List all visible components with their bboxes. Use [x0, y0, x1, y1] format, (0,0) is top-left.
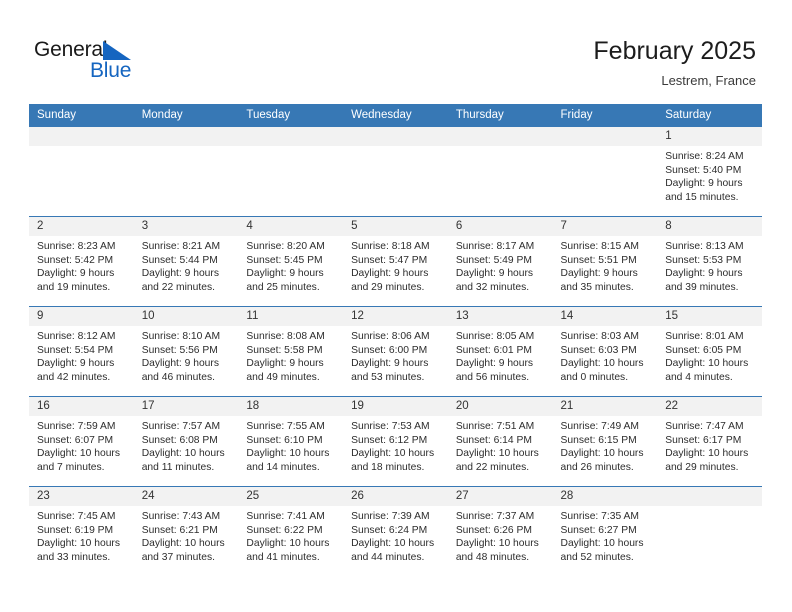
calendar-day-cell[interactable]: 14Sunrise: 8:03 AMSunset: 6:03 PMDayligh…: [553, 307, 658, 397]
logo-text-blue: Blue: [90, 59, 131, 83]
weekday-header-wednesday: Wednesday: [343, 104, 448, 127]
sunrise-text: Sunrise: 8:21 AM: [142, 240, 233, 254]
daylight-text: Daylight: 9 hours and 25 minutes.: [246, 267, 337, 294]
general-blue-logo[interactable]: General Blue: [34, 38, 184, 86]
sunset-text: Sunset: 5:56 PM: [142, 344, 233, 358]
sunset-text: Sunset: 6:03 PM: [561, 344, 652, 358]
calendar-body: 1Sunrise: 8:24 AMSunset: 5:40 PMDaylight…: [29, 127, 762, 577]
day-details: Sunrise: 7:45 AMSunset: 6:19 PMDaylight:…: [29, 506, 134, 564]
title-block: February 2025 Lestrem, France: [593, 36, 756, 90]
weekday-header-monday: Monday: [134, 104, 239, 127]
sunrise-text: Sunrise: 7:51 AM: [456, 420, 547, 434]
calendar-day-cell[interactable]: 27Sunrise: 7:37 AMSunset: 6:26 PMDayligh…: [448, 487, 553, 577]
daylight-text: Daylight: 9 hours and 53 minutes.: [351, 357, 442, 384]
day-number: 19: [343, 397, 448, 416]
sunset-text: Sunset: 6:27 PM: [561, 524, 652, 538]
day-details: Sunrise: 8:01 AMSunset: 6:05 PMDaylight:…: [657, 326, 762, 384]
daylight-text: Daylight: 10 hours and 44 minutes.: [351, 537, 442, 564]
sunrise-text: Sunrise: 8:15 AM: [561, 240, 652, 254]
calendar-week-row: 16Sunrise: 7:59 AMSunset: 6:07 PMDayligh…: [29, 397, 762, 487]
day-number: 1: [657, 127, 762, 146]
sunrise-text: Sunrise: 8:20 AM: [246, 240, 337, 254]
calendar-week-row: 1Sunrise: 8:24 AMSunset: 5:40 PMDaylight…: [29, 127, 762, 217]
sunrise-text: Sunrise: 7:45 AM: [37, 510, 128, 524]
sunrise-text: Sunrise: 7:59 AM: [37, 420, 128, 434]
daylight-text: Daylight: 9 hours and 32 minutes.: [456, 267, 547, 294]
sunrise-text: Sunrise: 7:41 AM: [246, 510, 337, 524]
daylight-text: Daylight: 10 hours and 0 minutes.: [561, 357, 652, 384]
sunset-text: Sunset: 5:53 PM: [665, 254, 756, 268]
sunset-text: Sunset: 5:58 PM: [246, 344, 337, 358]
calendar-day-cell[interactable]: 17Sunrise: 7:57 AMSunset: 6:08 PMDayligh…: [134, 397, 239, 487]
page-subtitle: Lestrem, France: [593, 72, 756, 90]
sunset-text: Sunset: 6:21 PM: [142, 524, 233, 538]
calendar-week-row: 9Sunrise: 8:12 AMSunset: 5:54 PMDaylight…: [29, 307, 762, 397]
calendar-day-cell[interactable]: 11Sunrise: 8:08 AMSunset: 5:58 PMDayligh…: [238, 307, 343, 397]
sunrise-text: Sunrise: 8:01 AM: [665, 330, 756, 344]
sunrise-text: Sunrise: 8:13 AM: [665, 240, 756, 254]
daylight-text: Daylight: 10 hours and 11 minutes.: [142, 447, 233, 474]
calendar-day-cell[interactable]: 26Sunrise: 7:39 AMSunset: 6:24 PMDayligh…: [343, 487, 448, 577]
sunset-text: Sunset: 5:40 PM: [665, 164, 756, 178]
weekday-header-saturday: Saturday: [657, 104, 762, 127]
day-number: 25: [238, 487, 343, 506]
sunset-text: Sunset: 6:17 PM: [665, 434, 756, 448]
sunset-text: Sunset: 6:15 PM: [561, 434, 652, 448]
daylight-text: Daylight: 9 hours and 56 minutes.: [456, 357, 547, 384]
calendar-week-row: 2Sunrise: 8:23 AMSunset: 5:42 PMDaylight…: [29, 217, 762, 307]
day-number: 15: [657, 307, 762, 326]
day-number: 23: [29, 487, 134, 506]
sunset-text: Sunset: 6:05 PM: [665, 344, 756, 358]
daylight-text: Daylight: 10 hours and 4 minutes.: [665, 357, 756, 384]
daylight-text: Daylight: 10 hours and 26 minutes.: [561, 447, 652, 474]
sunrise-text: Sunrise: 7:39 AM: [351, 510, 442, 524]
daylight-text: Daylight: 9 hours and 35 minutes.: [561, 267, 652, 294]
calendar-cell-empty: [553, 127, 658, 217]
calendar-cell-empty: [29, 127, 134, 217]
sunset-text: Sunset: 6:24 PM: [351, 524, 442, 538]
calendar-day-cell[interactable]: 4Sunrise: 8:20 AMSunset: 5:45 PMDaylight…: [238, 217, 343, 307]
day-number: 5: [343, 217, 448, 236]
sunrise-text: Sunrise: 8:23 AM: [37, 240, 128, 254]
calendar-day-cell[interactable]: 9Sunrise: 8:12 AMSunset: 5:54 PMDaylight…: [29, 307, 134, 397]
calendar-day-cell[interactable]: 5Sunrise: 8:18 AMSunset: 5:47 PMDaylight…: [343, 217, 448, 307]
sunrise-text: Sunrise: 8:12 AM: [37, 330, 128, 344]
day-details: Sunrise: 7:41 AMSunset: 6:22 PMDaylight:…: [238, 506, 343, 564]
sunset-text: Sunset: 5:49 PM: [456, 254, 547, 268]
day-details: Sunrise: 8:17 AMSunset: 5:49 PMDaylight:…: [448, 236, 553, 294]
day-details: Sunrise: 7:57 AMSunset: 6:08 PMDaylight:…: [134, 416, 239, 474]
daylight-text: Daylight: 10 hours and 48 minutes.: [456, 537, 547, 564]
sunrise-text: Sunrise: 7:43 AM: [142, 510, 233, 524]
day-number: 9: [29, 307, 134, 326]
daylight-text: Daylight: 9 hours and 46 minutes.: [142, 357, 233, 384]
calendar-cell-empty: [238, 127, 343, 217]
sunset-text: Sunset: 6:10 PM: [246, 434, 337, 448]
day-number: [553, 127, 658, 146]
day-number: 4: [238, 217, 343, 236]
calendar-day-cell[interactable]: 1Sunrise: 8:24 AMSunset: 5:40 PMDaylight…: [657, 127, 762, 217]
triangle-logo-icon: [103, 41, 131, 60]
calendar-week-row: 23Sunrise: 7:45 AMSunset: 6:19 PMDayligh…: [29, 487, 762, 577]
day-details: Sunrise: 7:49 AMSunset: 6:15 PMDaylight:…: [553, 416, 658, 474]
weekday-header-sunday: Sunday: [29, 104, 134, 127]
day-details: Sunrise: 7:55 AMSunset: 6:10 PMDaylight:…: [238, 416, 343, 474]
calendar-header-row: Sunday Monday Tuesday Wednesday Thursday…: [29, 104, 762, 127]
day-number: 10: [134, 307, 239, 326]
daylight-text: Daylight: 9 hours and 15 minutes.: [665, 177, 756, 204]
calendar-day-cell[interactable]: 21Sunrise: 7:49 AMSunset: 6:15 PMDayligh…: [553, 397, 658, 487]
calendar-cell-empty: [657, 487, 762, 577]
sunrise-text: Sunrise: 8:17 AM: [456, 240, 547, 254]
day-details: Sunrise: 7:37 AMSunset: 6:26 PMDaylight:…: [448, 506, 553, 564]
day-number: [448, 127, 553, 146]
calendar-day-cell[interactable]: 20Sunrise: 7:51 AMSunset: 6:14 PMDayligh…: [448, 397, 553, 487]
day-details: Sunrise: 7:51 AMSunset: 6:14 PMDaylight:…: [448, 416, 553, 474]
day-number: [657, 487, 762, 506]
day-details: Sunrise: 8:21 AMSunset: 5:44 PMDaylight:…: [134, 236, 239, 294]
day-details: Sunrise: 7:53 AMSunset: 6:12 PMDaylight:…: [343, 416, 448, 474]
calendar-day-cell[interactable]: 25Sunrise: 7:41 AMSunset: 6:22 PMDayligh…: [238, 487, 343, 577]
sunrise-text: Sunrise: 7:49 AM: [561, 420, 652, 434]
sunrise-text: Sunrise: 8:05 AM: [456, 330, 547, 344]
sunset-text: Sunset: 6:26 PM: [456, 524, 547, 538]
calendar-day-cell[interactable]: 18Sunrise: 7:55 AMSunset: 6:10 PMDayligh…: [238, 397, 343, 487]
calendar-day-cell[interactable]: 13Sunrise: 8:05 AMSunset: 6:01 PMDayligh…: [448, 307, 553, 397]
day-number: 27: [448, 487, 553, 506]
day-number: 2: [29, 217, 134, 236]
day-number: 28: [553, 487, 658, 506]
day-number: [134, 127, 239, 146]
sunset-text: Sunset: 6:07 PM: [37, 434, 128, 448]
calendar-day-cell[interactable]: 7Sunrise: 8:15 AMSunset: 5:51 PMDaylight…: [553, 217, 658, 307]
daylight-text: Daylight: 9 hours and 29 minutes.: [351, 267, 442, 294]
day-details: Sunrise: 8:03 AMSunset: 6:03 PMDaylight:…: [553, 326, 658, 384]
day-details: Sunrise: 8:05 AMSunset: 6:01 PMDaylight:…: [448, 326, 553, 384]
daylight-text: Daylight: 9 hours and 42 minutes.: [37, 357, 128, 384]
calendar-day-cell[interactable]: 22Sunrise: 7:47 AMSunset: 6:17 PMDayligh…: [657, 397, 762, 487]
calendar-day-cell[interactable]: 15Sunrise: 8:01 AMSunset: 6:05 PMDayligh…: [657, 307, 762, 397]
calendar-day-cell[interactable]: 23Sunrise: 7:45 AMSunset: 6:19 PMDayligh…: [29, 487, 134, 577]
day-details: Sunrise: 7:47 AMSunset: 6:17 PMDaylight:…: [657, 416, 762, 474]
calendar-day-cell[interactable]: 6Sunrise: 8:17 AMSunset: 5:49 PMDaylight…: [448, 217, 553, 307]
day-number: 12: [343, 307, 448, 326]
day-details: Sunrise: 8:10 AMSunset: 5:56 PMDaylight:…: [134, 326, 239, 384]
sunset-text: Sunset: 5:45 PM: [246, 254, 337, 268]
day-number: 13: [448, 307, 553, 326]
sunrise-text: Sunrise: 7:53 AM: [351, 420, 442, 434]
calendar-table: Sunday Monday Tuesday Wednesday Thursday…: [29, 104, 762, 577]
sunset-text: Sunset: 6:12 PM: [351, 434, 442, 448]
sunset-text: Sunset: 6:08 PM: [142, 434, 233, 448]
sunrise-text: Sunrise: 7:57 AM: [142, 420, 233, 434]
calendar-day-cell[interactable]: 24Sunrise: 7:43 AMSunset: 6:21 PMDayligh…: [134, 487, 239, 577]
day-number: 6: [448, 217, 553, 236]
day-number: 21: [553, 397, 658, 416]
day-details: Sunrise: 8:23 AMSunset: 5:42 PMDaylight:…: [29, 236, 134, 294]
daylight-text: Daylight: 10 hours and 52 minutes.: [561, 537, 652, 564]
day-number: 22: [657, 397, 762, 416]
page-title: February 2025: [593, 36, 756, 66]
sunrise-text: Sunrise: 8:24 AM: [665, 150, 756, 164]
day-number: 17: [134, 397, 239, 416]
calendar-day-cell[interactable]: 8Sunrise: 8:13 AMSunset: 5:53 PMDaylight…: [657, 217, 762, 307]
calendar-page: General Blue February 2025 Lestrem, Fran…: [0, 0, 792, 612]
daylight-text: Daylight: 10 hours and 41 minutes.: [246, 537, 337, 564]
day-details: Sunrise: 8:12 AMSunset: 5:54 PMDaylight:…: [29, 326, 134, 384]
sunrise-text: Sunrise: 7:55 AM: [246, 420, 337, 434]
day-details: Sunrise: 8:20 AMSunset: 5:45 PMDaylight:…: [238, 236, 343, 294]
daylight-text: Daylight: 9 hours and 39 minutes.: [665, 267, 756, 294]
day-details: Sunrise: 8:08 AMSunset: 5:58 PMDaylight:…: [238, 326, 343, 384]
day-number: 14: [553, 307, 658, 326]
calendar-cell-empty: [343, 127, 448, 217]
day-number: [238, 127, 343, 146]
calendar-day-cell[interactable]: 19Sunrise: 7:53 AMSunset: 6:12 PMDayligh…: [343, 397, 448, 487]
sunset-text: Sunset: 5:47 PM: [351, 254, 442, 268]
calendar-cell-empty: [134, 127, 239, 217]
calendar-cell-empty: [448, 127, 553, 217]
day-details: Sunrise: 8:13 AMSunset: 5:53 PMDaylight:…: [657, 236, 762, 294]
weekday-header-tuesday: Tuesday: [238, 104, 343, 127]
day-details: Sunrise: 8:15 AMSunset: 5:51 PMDaylight:…: [553, 236, 658, 294]
calendar-day-cell[interactable]: 3Sunrise: 8:21 AMSunset: 5:44 PMDaylight…: [134, 217, 239, 307]
calendar-day-cell[interactable]: 2Sunrise: 8:23 AMSunset: 5:42 PMDaylight…: [29, 217, 134, 307]
sunrise-text: Sunrise: 7:37 AM: [456, 510, 547, 524]
day-number: 11: [238, 307, 343, 326]
day-number: 7: [553, 217, 658, 236]
day-details: Sunrise: 8:18 AMSunset: 5:47 PMDaylight:…: [343, 236, 448, 294]
sunset-text: Sunset: 5:51 PM: [561, 254, 652, 268]
calendar-day-cell[interactable]: 12Sunrise: 8:06 AMSunset: 6:00 PMDayligh…: [343, 307, 448, 397]
daylight-text: Daylight: 10 hours and 22 minutes.: [456, 447, 547, 474]
day-number: 26: [343, 487, 448, 506]
calendar-day-cell[interactable]: 16Sunrise: 7:59 AMSunset: 6:07 PMDayligh…: [29, 397, 134, 487]
daylight-text: Daylight: 10 hours and 33 minutes.: [37, 537, 128, 564]
daylight-text: Daylight: 9 hours and 22 minutes.: [142, 267, 233, 294]
page-header: General Blue February 2025 Lestrem, Fran…: [0, 0, 792, 104]
day-details: Sunrise: 7:39 AMSunset: 6:24 PMDaylight:…: [343, 506, 448, 564]
day-number: 20: [448, 397, 553, 416]
sunset-text: Sunset: 6:00 PM: [351, 344, 442, 358]
day-number: 24: [134, 487, 239, 506]
sunrise-text: Sunrise: 8:08 AM: [246, 330, 337, 344]
daylight-text: Daylight: 9 hours and 49 minutes.: [246, 357, 337, 384]
day-details: Sunrise: 8:06 AMSunset: 6:00 PMDaylight:…: [343, 326, 448, 384]
daylight-text: Daylight: 10 hours and 7 minutes.: [37, 447, 128, 474]
calendar-day-cell[interactable]: 28Sunrise: 7:35 AMSunset: 6:27 PMDayligh…: [553, 487, 658, 577]
weekday-header-friday: Friday: [553, 104, 658, 127]
day-number: 8: [657, 217, 762, 236]
daylight-text: Daylight: 10 hours and 18 minutes.: [351, 447, 442, 474]
sunrise-text: Sunrise: 8:03 AM: [561, 330, 652, 344]
day-number: 16: [29, 397, 134, 416]
day-details: Sunrise: 7:59 AMSunset: 6:07 PMDaylight:…: [29, 416, 134, 474]
sunrise-text: Sunrise: 8:06 AM: [351, 330, 442, 344]
daylight-text: Daylight: 10 hours and 37 minutes.: [142, 537, 233, 564]
daylight-text: Daylight: 10 hours and 14 minutes.: [246, 447, 337, 474]
daylight-text: Daylight: 10 hours and 29 minutes.: [665, 447, 756, 474]
sunrise-text: Sunrise: 7:47 AM: [665, 420, 756, 434]
sunset-text: Sunset: 6:14 PM: [456, 434, 547, 448]
sunset-text: Sunset: 6:01 PM: [456, 344, 547, 358]
sunset-text: Sunset: 6:19 PM: [37, 524, 128, 538]
sunset-text: Sunset: 6:22 PM: [246, 524, 337, 538]
sunset-text: Sunset: 5:42 PM: [37, 254, 128, 268]
day-details: Sunrise: 8:24 AMSunset: 5:40 PMDaylight:…: [657, 146, 762, 204]
calendar-day-cell[interactable]: 10Sunrise: 8:10 AMSunset: 5:56 PMDayligh…: [134, 307, 239, 397]
sunset-text: Sunset: 5:54 PM: [37, 344, 128, 358]
day-details: Sunrise: 7:43 AMSunset: 6:21 PMDaylight:…: [134, 506, 239, 564]
sunrise-text: Sunrise: 8:18 AM: [351, 240, 442, 254]
day-details: Sunrise: 7:35 AMSunset: 6:27 PMDaylight:…: [553, 506, 658, 564]
daylight-text: Daylight: 9 hours and 19 minutes.: [37, 267, 128, 294]
day-number: 3: [134, 217, 239, 236]
day-number: [29, 127, 134, 146]
day-number: [343, 127, 448, 146]
day-number: 18: [238, 397, 343, 416]
sunrise-text: Sunrise: 7:35 AM: [561, 510, 652, 524]
weekday-header-thursday: Thursday: [448, 104, 553, 127]
sunrise-text: Sunrise: 8:10 AM: [142, 330, 233, 344]
sunset-text: Sunset: 5:44 PM: [142, 254, 233, 268]
